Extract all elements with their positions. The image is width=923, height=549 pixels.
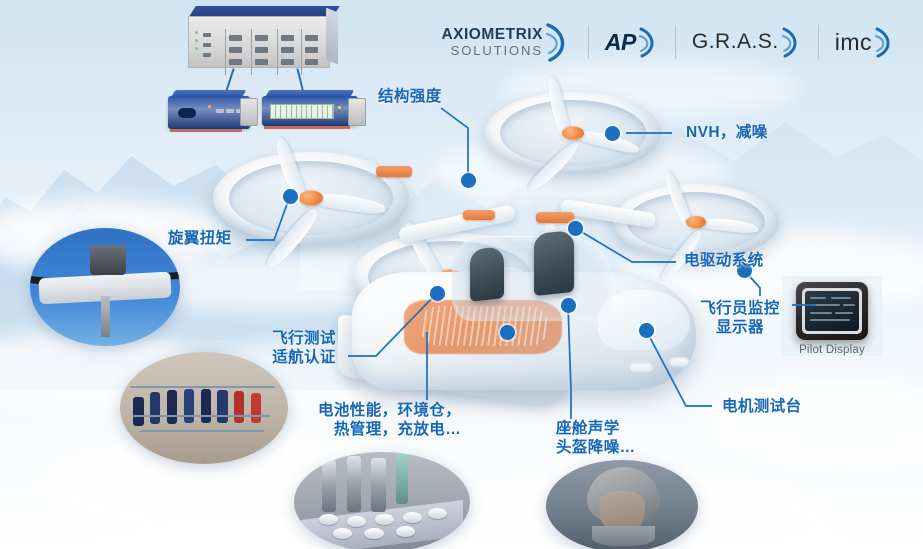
brand-logo-bar: AXIOMETRIX SOLUTIONS AP G.R.A.S. xyxy=(425,22,911,62)
callout-dot-motor-test-bench[interactable] xyxy=(639,323,654,338)
mount-pad-2 xyxy=(536,212,574,223)
callout-label-line2: 显示器 xyxy=(694,319,786,338)
daq-connector-left xyxy=(240,98,258,126)
callout-dot-structural-strength[interactable] xyxy=(461,173,476,188)
callout-label-pilot-monitoring-display: 飞行员监控 显示器 xyxy=(694,300,786,338)
cabin-seat-rear xyxy=(470,246,504,302)
callout-dot-rotor-torque[interactable] xyxy=(283,189,298,204)
daq-module-right xyxy=(262,96,358,126)
logo-axiometrix: AXIOMETRIX SOLUTIONS xyxy=(425,22,587,62)
pilot-display-screen xyxy=(805,291,859,331)
callout-dot-flight-test[interactable] xyxy=(430,286,445,301)
callout-label-nvh: NVH，减噪 xyxy=(686,124,768,143)
callout-dot-battery[interactable] xyxy=(500,325,515,340)
daq-connector-right xyxy=(348,98,366,126)
callout-label-motor-test-bench: 电机测试台 xyxy=(722,398,802,417)
swoosh-icon xyxy=(782,26,802,58)
callout-label-electric-drive: 电驱动系统 xyxy=(684,252,764,271)
callout-label-cabin-acoustics: 座舱声学 头盔降噪… xyxy=(556,420,636,458)
swoosh-icon xyxy=(875,26,895,58)
logo-imc: imc xyxy=(819,26,911,58)
logo-ap: AP xyxy=(589,26,675,58)
logo-gras: G.R.A.S. xyxy=(676,26,818,58)
swoosh-icon xyxy=(639,26,659,58)
callout-label-rotor-torque: 旋翼扭矩 xyxy=(168,230,232,249)
photo-battery-test-rack xyxy=(120,352,288,464)
daq-module-left xyxy=(168,96,250,129)
callout-dot-nvh[interactable] xyxy=(605,126,620,141)
daq-rack-body xyxy=(188,16,330,68)
headlight-left xyxy=(628,362,654,374)
terminal-strip xyxy=(270,104,334,119)
rotor-head xyxy=(90,245,126,276)
rotor-duct-rear-right xyxy=(485,92,661,174)
callout-label-line1: 飞行员监控 xyxy=(694,300,786,319)
daq-rack-side xyxy=(326,8,338,65)
swoosh-icon xyxy=(546,22,572,62)
callout-dot-cabin-acoustics[interactable] xyxy=(561,298,576,313)
photo-rotor-head-test xyxy=(30,228,180,346)
rotor-hub xyxy=(686,216,706,228)
headlight-right xyxy=(668,357,690,368)
ap-wordmark: AP xyxy=(605,29,636,56)
callout-label-flight-test: 飞行测试 适航认证 xyxy=(258,330,350,368)
rotor-mast xyxy=(101,296,110,336)
pilot-display-device[interactable]: Pilot Display xyxy=(796,282,868,340)
axiometrix-wordmark-line1: AXIOMETRIX xyxy=(441,27,542,43)
imc-wordmark: imc xyxy=(835,29,872,56)
pilot-display-caption: Pilot Display xyxy=(788,344,876,356)
cloud-7 xyxy=(700,380,923,470)
rotor-hub xyxy=(562,127,584,140)
helmet-chin-strap xyxy=(592,526,656,546)
callout-dot-electric-drive[interactable] xyxy=(568,221,583,236)
callout-label-battery-performance: 电池性能，环境仓， 热管理，充放电… xyxy=(318,402,461,440)
photo-acoustic-test-chamber xyxy=(294,452,470,549)
gras-wordmark: G.R.A.S. xyxy=(692,30,779,54)
callout-label-line2: 热管理，充放电… xyxy=(318,421,461,440)
axiometrix-wordmark-line2: SOLUTIONS xyxy=(451,44,543,57)
rotor-hub xyxy=(299,191,323,206)
photo-helmet-hats-test xyxy=(546,460,698,549)
cabin-seat-front xyxy=(534,230,574,296)
callout-label-line1: 电池性能，环境仓， xyxy=(318,402,461,421)
callout-label-line2: 头盔降噪… xyxy=(556,439,636,458)
mount-pad-1 xyxy=(376,166,412,177)
daq-rack-chassis xyxy=(188,6,340,68)
pilot-display-bezel xyxy=(802,288,862,334)
callout-label-structural-strength: 结构强度 xyxy=(378,88,442,107)
evtool-infographic-canvas: AXIOMETRIX SOLUTIONS AP G.R.A.S. xyxy=(0,0,923,549)
callout-label-line2: 适航认证 xyxy=(258,349,350,368)
callout-label-line1: 飞行测试 xyxy=(258,330,350,349)
callout-label-line1: 座舱声学 xyxy=(556,420,636,439)
mount-pad-3 xyxy=(463,210,495,220)
